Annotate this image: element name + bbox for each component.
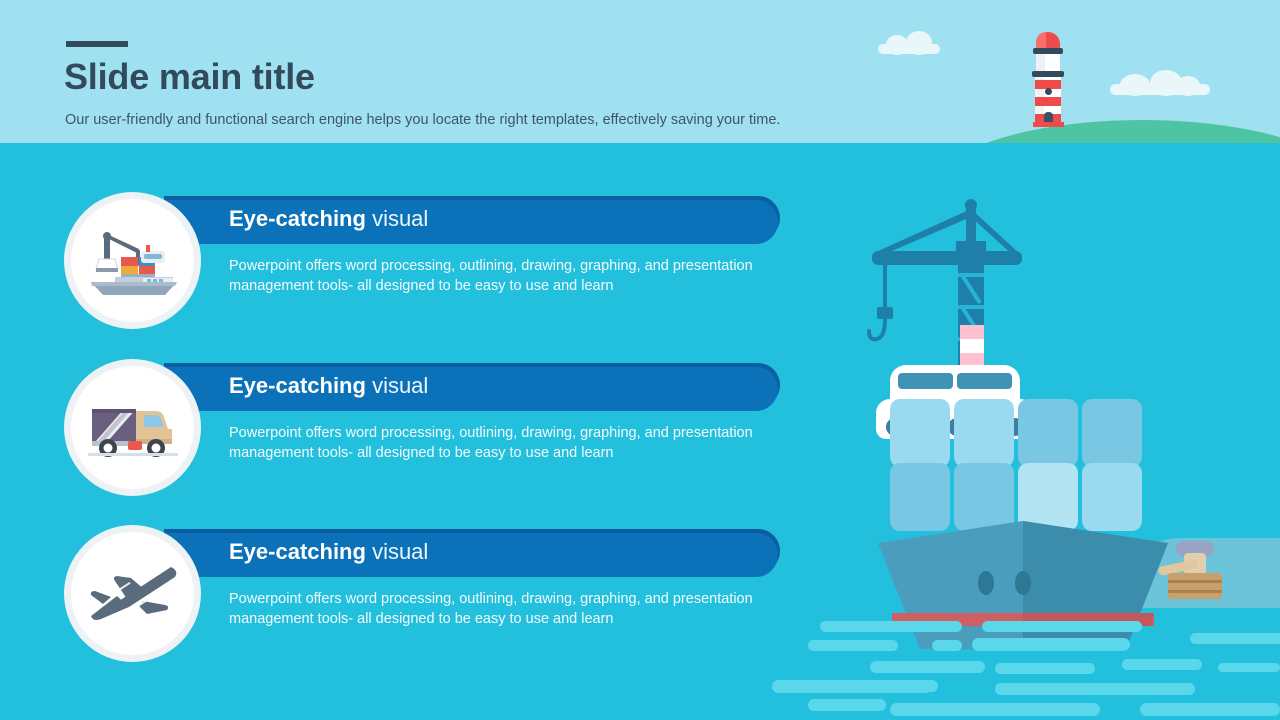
title-accent-bar xyxy=(66,41,128,47)
water-ripple xyxy=(808,699,886,711)
water-ripple xyxy=(1218,663,1280,672)
feature-heading: Eye-catching visual xyxy=(229,373,428,399)
feature-body-text: Powerpoint offers word processing, outli… xyxy=(229,589,789,629)
page-subtitle: Our user-friendly and functional search … xyxy=(65,112,780,128)
bridge-window-band xyxy=(957,373,1012,389)
water-ripple xyxy=(1122,659,1202,670)
feature-icon-circle[interactable] xyxy=(64,359,201,496)
feature-heading: Eye-catching visual xyxy=(229,539,428,565)
water-ripple xyxy=(820,621,950,632)
container-block xyxy=(954,399,1014,467)
lighthouse-icon xyxy=(1021,32,1075,126)
green-hill xyxy=(932,120,1280,143)
feature-row: Eye-catching visual Powerpoint offers wo… xyxy=(64,525,780,660)
feature-row: Eye-catching visual Powerpoint offers wo… xyxy=(64,359,780,494)
feature-heading-bold: Eye-catching xyxy=(229,206,366,231)
bridge-window-band xyxy=(898,373,953,389)
funnel-stripe xyxy=(960,325,984,339)
port-illustration xyxy=(790,143,1280,720)
feature-icon-circle[interactable] xyxy=(64,525,201,662)
water-ripple xyxy=(995,663,1095,674)
feature-icon-circle[interactable] xyxy=(64,192,201,329)
slide-header: Slide main title Our user-friendly and f… xyxy=(0,0,1280,143)
feature-heading-light: visual xyxy=(372,539,428,564)
slide-canvas: Slide main title Our user-friendly and f… xyxy=(0,0,1280,720)
feature-heading: Eye-catching visual xyxy=(229,206,428,232)
cargo-ship-icon xyxy=(85,223,181,299)
feature-heading-bold: Eye-catching xyxy=(229,539,366,564)
water-ripple xyxy=(1190,633,1280,644)
water-ripple xyxy=(808,640,898,651)
container-block xyxy=(1082,399,1142,467)
feature-heading-light: visual xyxy=(372,206,428,231)
feature-body-text: Powerpoint offers word processing, outli… xyxy=(229,423,789,463)
water-ripple xyxy=(932,640,962,651)
airplane-icon xyxy=(85,561,181,627)
feature-heading-light: visual xyxy=(372,373,428,398)
water-ripple xyxy=(972,638,1130,651)
cloud-icon xyxy=(878,44,940,54)
container-block xyxy=(1018,399,1078,467)
feature-row: Eye-catching visual Powerpoint offers wo… xyxy=(64,192,780,327)
feature-body-text: Powerpoint offers word processing, outli… xyxy=(229,256,789,296)
circle-inner xyxy=(71,532,194,655)
water-ripple xyxy=(995,683,1195,695)
mooring-bollard-icon xyxy=(1158,541,1228,601)
circle-inner xyxy=(71,199,194,322)
water-ripple xyxy=(870,661,985,673)
water-ripple xyxy=(982,621,1142,632)
feature-heading-bold: Eye-catching xyxy=(229,373,366,398)
delivery-truck-icon xyxy=(88,397,178,459)
water-ripple xyxy=(772,680,932,693)
container-block xyxy=(890,399,950,467)
water-ripple xyxy=(890,703,1100,716)
page-title: Slide main title xyxy=(64,56,315,98)
circle-inner xyxy=(71,366,194,489)
water-ripple xyxy=(1140,703,1280,716)
cloud-icon xyxy=(1110,84,1210,95)
